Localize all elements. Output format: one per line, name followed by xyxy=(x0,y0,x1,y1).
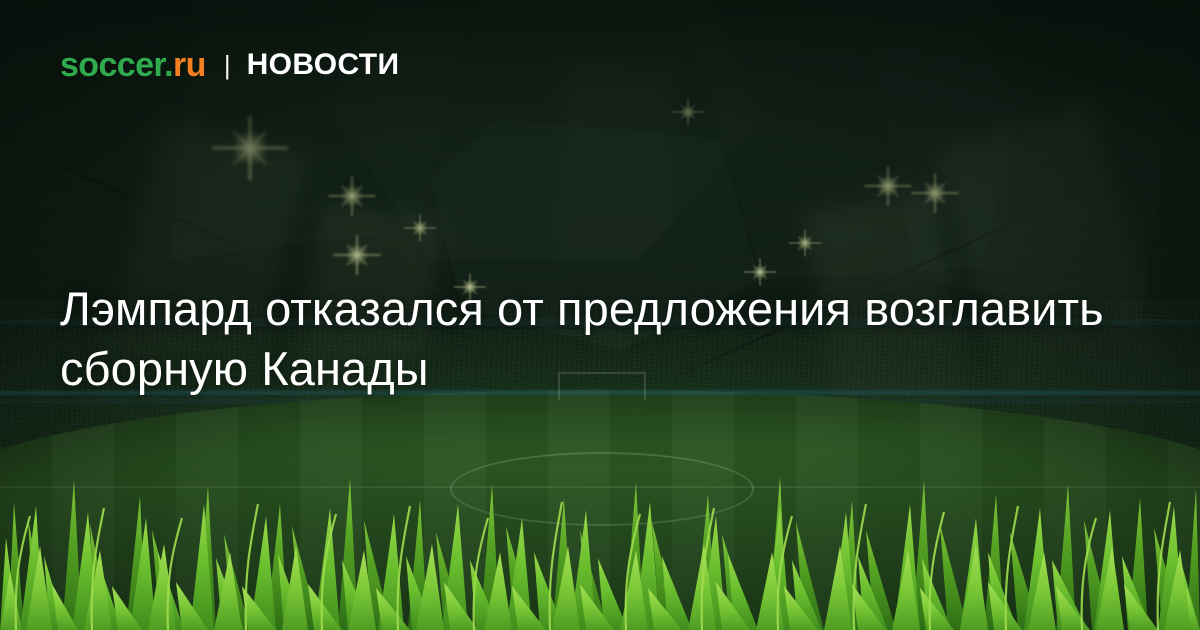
section-label-news: НОВОСТИ xyxy=(247,50,400,80)
floodlight-starburst-icon xyxy=(349,193,355,199)
logo-text-soccer: soccer xyxy=(60,46,164,84)
header-divider: | xyxy=(224,52,231,78)
grass-blades-icon xyxy=(0,460,1200,630)
floodlight-starburst-icon xyxy=(245,143,255,153)
logo-text-dot: . xyxy=(164,46,173,84)
floodlight-starburst-icon xyxy=(758,270,762,274)
floodlight-starburst-icon xyxy=(932,190,938,196)
floodlight-starburst-icon xyxy=(686,110,690,114)
site-logo[interactable]: soccer.ru xyxy=(60,48,206,82)
floodlight-starburst-icon xyxy=(885,183,891,189)
site-header: soccer.ru | НОВОСТИ xyxy=(60,48,399,82)
light-beam xyxy=(556,58,674,302)
news-share-card: soccer.ru | НОВОСТИ Лэмпард отказался от… xyxy=(0,0,1200,630)
floodlight-starburst-icon xyxy=(803,241,807,245)
article-headline: Лэмпард отказался от предложения возглав… xyxy=(60,279,1110,398)
floodlight-starburst-icon xyxy=(418,226,422,230)
floodlight-starburst-icon xyxy=(354,252,360,258)
logo-text-ru: ru xyxy=(173,46,206,84)
